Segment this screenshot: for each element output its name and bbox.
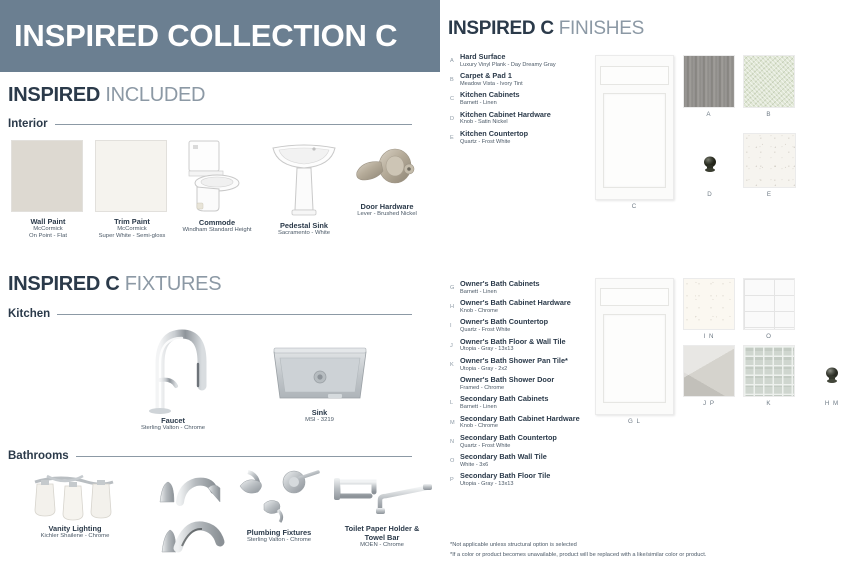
divider-rule [76, 456, 412, 457]
subheading-interior: Interior [8, 118, 412, 130]
product-door-hardware: Door Hardware Lever - Brushed Nickel [344, 138, 430, 218]
subheading-label: Bathrooms [8, 450, 69, 462]
vanity-light-icon [21, 470, 129, 522]
product-name: Vanity Lighting [10, 524, 140, 533]
faucet-icon [130, 324, 216, 414]
legend-desc: Knob - Chrome [460, 308, 571, 315]
swatch-kitchen-countertop: E [743, 133, 796, 198]
legend-name: Owner's Bath Floor & Wall Tile [460, 338, 566, 347]
swatch-floor-tile: J P [683, 345, 735, 407]
legend-name: Secondary Bath Wall Tile [460, 453, 547, 462]
swatch-key: I N [683, 333, 735, 340]
legend-desc: Quartz - Frost White [460, 139, 528, 146]
section-heading-finishes: INSPIRED C FINISHES [448, 18, 644, 40]
legend-item: L Secondary Bath Cabinets Barnett - Line… [450, 395, 600, 411]
heading-bold: INSPIRED C [448, 18, 554, 39]
subheading-bathrooms: Bathrooms [8, 450, 412, 462]
legend-name: Secondary Bath Countertop [460, 434, 557, 443]
legend-key: K [450, 357, 460, 368]
page-title: INSPIRED COLLECTION C [0, 18, 397, 54]
legend-desc: Framed - Chrome [460, 385, 554, 392]
divider-rule [55, 124, 412, 125]
swatch-carpet: B [743, 55, 795, 118]
legend-item: G Owner's Bath Cabinets Barnett - Linen [450, 280, 600, 296]
legend-desc: Quartz - Frost White [460, 327, 548, 334]
legend-name: Owner's Bath Cabinet Hardware [460, 299, 571, 308]
swatch-key: G L [595, 418, 674, 425]
legend-item: J Owner's Bath Floor & Wall Tile Utopia … [450, 338, 600, 354]
heading-bold: INSPIRED C [8, 273, 119, 295]
product-name: Toilet Paper Holder & [326, 524, 438, 533]
legend-item: H Owner's Bath Cabinet Hardware Knob - C… [450, 299, 600, 315]
product-detail-2: Super White - Semi-gloss [95, 233, 169, 240]
section-heading-included: INSPIRED INCLUDED [8, 84, 205, 107]
legend-item: D Kitchen Cabinet Hardware Knob - Satin … [450, 111, 602, 127]
product-name: Wall Paint [11, 217, 85, 226]
swatch-bath-cabinet: G L [595, 278, 674, 425]
subway-tile-texture [743, 278, 795, 330]
swatch-kitchen-cabinet: C [595, 55, 674, 210]
cabinet-door-illustration [595, 55, 674, 200]
legend-name: Hard Surface [460, 53, 556, 62]
legend-bottom: G Owner's Bath Cabinets Barnett - Linen … [450, 280, 600, 492]
product-name: Plumbing Fixtures [232, 528, 326, 537]
legend-item: P Secondary Bath Floor Tile Utopia - Gra… [450, 472, 600, 488]
paint-swatch [95, 140, 167, 212]
left-column: INSPIRED COLLECTION C INSPIRED INCLUDED … [0, 0, 440, 569]
legend-key: E [450, 130, 460, 141]
cabinet-drawer [600, 66, 669, 85]
toilet-icon [181, 137, 253, 215]
product-kitchen-sink: Sink MSI - 3219 [252, 344, 387, 424]
product-detail-1: Kichler Shailene - Chrome [10, 533, 140, 540]
legend-item: K Owner's Bath Shower Pan Tile* Utopia -… [450, 357, 600, 373]
legend-item: N Secondary Bath Countertop Quartz - Fro… [450, 434, 600, 450]
legend-name: Owner's Bath Shower Pan Tile* [460, 357, 568, 366]
product-name: Faucet [118, 416, 228, 425]
product-detail-1: Sterling Valton - Chrome [118, 425, 228, 432]
knob-icon [818, 352, 846, 397]
heading-bold: INSPIRED [8, 84, 100, 106]
legend-item: C Kitchen Cabinets Barnett - Linen [450, 91, 602, 107]
product-faucet: Faucet Sterling Valton - Chrome [118, 324, 228, 432]
subheading-label: Kitchen [8, 308, 50, 320]
legend-name: Owner's Bath Shower Door [460, 376, 554, 385]
swatch-wall-tile: O [743, 278, 795, 340]
product-detail-1: Windham Standard Height [178, 227, 256, 234]
legend-item: M Secondary Bath Cabinet Hardware Knob -… [450, 415, 600, 431]
legend-desc: Barnett - Linen [460, 289, 540, 296]
tub-faucet-icon [152, 468, 228, 560]
knob-icon [697, 140, 723, 188]
floor-tile-texture [683, 345, 735, 397]
legend-item: Owner's Bath Shower Door Framed - Chrome [450, 376, 600, 392]
legend-top: A Hard Surface Luxury Vinyl Plank - Day … [450, 53, 602, 149]
swatch-key: E [743, 191, 796, 198]
quartz-texture [743, 133, 796, 188]
product-towel-bar: Toilet Paper Holder & Towel Bar MOEN - C… [326, 470, 438, 549]
footnote-1: *Not applicable unless structural option… [450, 541, 850, 550]
swatch-kitchen-knob: D [697, 140, 723, 198]
product-name: Sink [252, 408, 387, 417]
product-name: Door Hardware [344, 202, 430, 211]
legend-desc: White - 3x6 [460, 462, 547, 469]
legend-name: Owner's Bath Cabinets [460, 280, 540, 289]
product-pedestal-sink: Pedestal Sink Sacramento - White [266, 140, 342, 237]
legend-desc: Barnett - Linen [460, 100, 520, 107]
legend-desc: Meadow Vista - Ivory Tint [460, 81, 523, 88]
subheading-label: Interior [8, 118, 48, 130]
heading-light: FIXTURES [125, 273, 222, 295]
paint-swatch [11, 140, 83, 212]
swatch-key: A [683, 111, 735, 118]
mosaic-tile-texture [743, 345, 795, 397]
product-commode: Commode Windham Standard Height [178, 137, 256, 234]
legend-name: Secondary Bath Cabinet Hardware [460, 415, 580, 424]
legend-key: O [450, 453, 460, 464]
product-detail-1: MSI - 3219 [252, 417, 387, 424]
right-column: INSPIRED C FINISHES A Hard Surface Luxur… [440, 0, 853, 569]
legend-key: J [450, 338, 460, 349]
legend-item: A Hard Surface Luxury Vinyl Plank - Day … [450, 53, 602, 69]
product-name-line2: Towel Bar [326, 533, 438, 542]
legend-name: Secondary Bath Cabinets [460, 395, 548, 404]
product-detail-2: On Point - Flat [11, 233, 85, 240]
swatch-key: O [743, 333, 795, 340]
legend-key: P [450, 472, 460, 483]
legend-key: C [450, 91, 460, 102]
footnote-2: *If a color or product becomes unavailab… [450, 551, 850, 560]
legend-desc: Knob - Chrome [460, 423, 580, 430]
legend-item: O Secondary Bath Wall Tile White - 3x6 [450, 453, 600, 469]
swatch-shower-pan-tile: K [743, 345, 795, 407]
legend-item: I Owner's Bath Countertop Quartz - Frost… [450, 318, 600, 334]
product-detail-1: Sacramento - White [266, 230, 342, 237]
product-vanity-lighting: Vanity Lighting Kichler Shailene - Chrom… [10, 470, 140, 540]
product-tub-faucet [150, 468, 230, 560]
legend-item: B Carpet & Pad 1 Meadow Vista - Ivory Ti… [450, 72, 602, 88]
legend-key: I [450, 318, 460, 329]
legend-item: E Kitchen Countertop Quartz - Frost Whit… [450, 130, 602, 146]
pedestal-sink-icon [267, 140, 341, 218]
legend-desc: Utopia - Gray - 13x13 [460, 481, 550, 488]
cabinet-panel [603, 314, 666, 403]
legend-key: H [450, 299, 460, 310]
swatch-bath-countertop: I N [683, 278, 735, 340]
carpet-texture [743, 55, 795, 108]
kitchen-sink-icon [270, 344, 370, 406]
product-detail-1: McCormick [95, 226, 169, 233]
legend-desc: Luxury Vinyl Plank - Day Dreamy Gray [460, 62, 556, 69]
legend-key: A [450, 53, 460, 64]
product-wall-paint: Wall Paint McCormick On Point - Flat [11, 140, 85, 241]
legend-desc: Knob - Satin Nickel [460, 119, 551, 126]
legend-name: Kitchen Countertop [460, 130, 528, 139]
legend-desc: Barnett - Linen [460, 404, 548, 411]
product-name: Commode [178, 218, 256, 227]
swatch-bath-knob: H M [818, 352, 846, 407]
title-bar: INSPIRED COLLECTION C [0, 0, 440, 72]
swatch-key: D [697, 191, 723, 198]
legend-desc: Quartz - Frost White [460, 443, 557, 450]
legend-name: Secondary Bath Floor Tile [460, 472, 550, 481]
swatch-key: K [743, 400, 795, 407]
legend-key: B [450, 72, 460, 83]
towel-bar-icon [330, 470, 434, 522]
cabinet-door-illustration [595, 278, 674, 415]
product-detail-1: Lever - Brushed Nickel [344, 211, 430, 218]
legend-key [450, 376, 460, 381]
door-lever-icon [347, 138, 427, 200]
product-detail-1: Sterling Valton - Chrome [232, 537, 326, 544]
divider-rule [57, 314, 412, 315]
product-detail-1: MOEN - Chrome [326, 542, 438, 549]
swatch-hard-surface: A [683, 55, 735, 118]
section-heading-fixtures: INSPIRED C FIXTURES [8, 273, 221, 296]
legend-key: G [450, 280, 460, 291]
product-trim-paint: Trim Paint McCormick Super White - Semi-… [95, 140, 169, 241]
legend-name: Kitchen Cabinet Hardware [460, 111, 551, 120]
legend-name: Carpet & Pad 1 [460, 72, 523, 81]
product-name: Trim Paint [95, 217, 169, 226]
vinyl-plank-texture [683, 55, 735, 108]
legend-key: D [450, 111, 460, 122]
legend-desc: Utopia - Gray - 13x13 [460, 346, 566, 353]
heading-light: INCLUDED [105, 84, 205, 106]
legend-name: Kitchen Cabinets [460, 91, 520, 100]
swatch-key: C [595, 203, 674, 210]
legend-name: Owner's Bath Countertop [460, 318, 548, 327]
legend-key: L [450, 395, 460, 406]
product-plumbing-fixtures: Plumbing Fixtures Sterling Valton - Chro… [232, 468, 326, 544]
legend-desc: Utopia - Gray - 2x2 [460, 366, 568, 373]
cabinet-panel [603, 93, 666, 187]
product-detail-1: McCormick [11, 226, 85, 233]
swatch-key: J P [683, 400, 735, 407]
cabinet-drawer [600, 288, 669, 306]
collection-sheet: INSPIRED COLLECTION C INSPIRED INCLUDED … [0, 0, 853, 569]
product-name: Pedestal Sink [266, 221, 342, 230]
quartz-texture [683, 278, 735, 330]
heading-light: FINISHES [559, 18, 644, 39]
shower-head-icon [234, 468, 324, 526]
legend-key: N [450, 434, 460, 445]
swatch-key: B [743, 111, 795, 118]
swatch-key: H M [818, 400, 846, 407]
legend-key: M [450, 415, 460, 426]
subheading-kitchen: Kitchen [8, 308, 412, 320]
